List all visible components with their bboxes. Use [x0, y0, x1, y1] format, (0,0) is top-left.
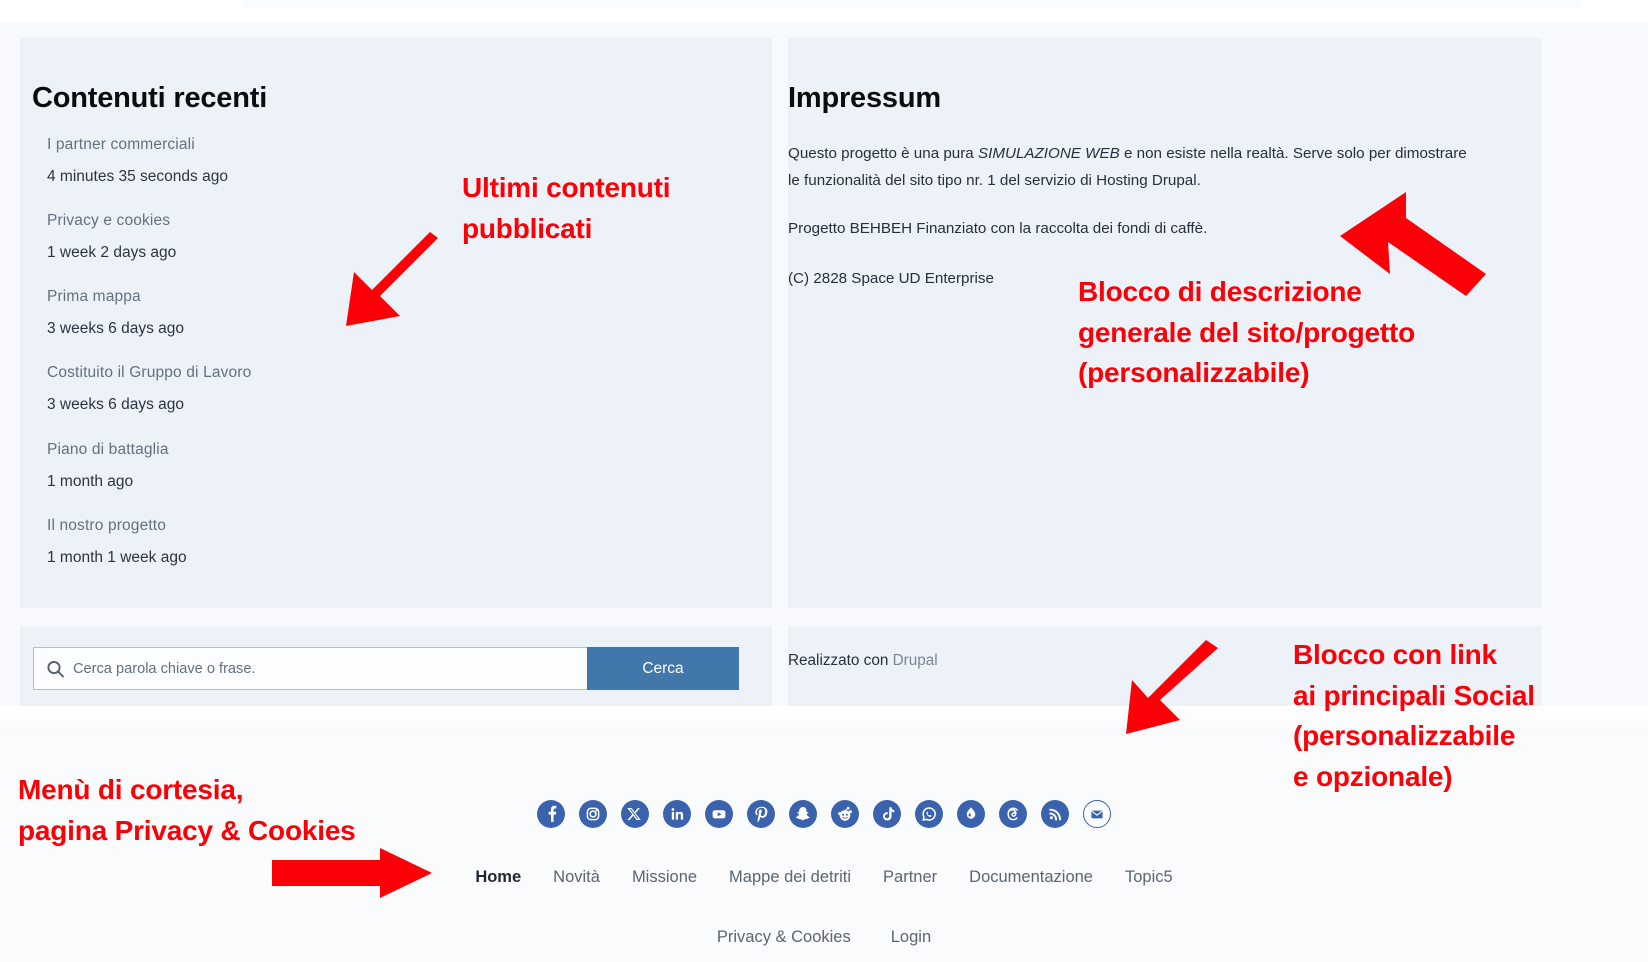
top-strip — [0, 0, 1648, 22]
list-item[interactable]: Piano di battaglia 1 month ago — [47, 438, 647, 494]
colophon-text: Realizzato con Drupal — [788, 652, 938, 670]
list-item-title[interactable]: Il nostro progetto — [47, 514, 647, 538]
annotation-arrow-menu — [272, 848, 437, 898]
impressum-title: Impressum — [788, 82, 941, 115]
page-root: Contenuti recenti I partner commerciali … — [0, 0, 1648, 962]
impressum-p1-emphasis: SIMULAZIONE WEB — [978, 145, 1120, 162]
annotation-recent-content: Ultimi contenuti pubblicati — [462, 168, 670, 249]
instagram-icon[interactable] — [579, 800, 607, 828]
annotation-arrow-social — [1090, 640, 1225, 750]
drupal-link[interactable]: Drupal — [893, 652, 938, 669]
search-input[interactable] — [34, 648, 587, 689]
snapchat-icon[interactable] — [789, 800, 817, 828]
email-icon[interactable] — [1083, 800, 1111, 828]
list-item[interactable]: Costituito il Gruppo di Lavoro 3 weeks 6… — [47, 361, 647, 417]
reddit-icon[interactable] — [831, 800, 859, 828]
courtesy-menu: Privacy & Cookies Login — [0, 928, 1648, 947]
main-menu: Home Novità Missione Mappe dei detriti P… — [0, 868, 1648, 887]
main-menu-item-topic5[interactable]: Topic5 — [1125, 868, 1173, 887]
list-item-time: 1 month ago — [47, 469, 647, 494]
annotation-courtesy-menu: Menù di cortesia, pagina Privacy & Cooki… — [18, 770, 356, 851]
list-item-title[interactable]: Costituito il Gruppo di Lavoro — [47, 361, 647, 385]
main-menu-item-documentazione[interactable]: Documentazione — [969, 868, 1093, 887]
annotation-social: Blocco con link ai principali Social (pe… — [1293, 635, 1535, 797]
tiktok-icon[interactable] — [873, 800, 901, 828]
main-menu-item-missione[interactable]: Missione — [632, 868, 697, 887]
search-panel: Cerca — [20, 626, 772, 706]
youtube-icon[interactable] — [705, 800, 733, 828]
list-item-time: 3 weeks 6 days ago — [47, 392, 647, 417]
search-field-wrapper[interactable] — [33, 647, 587, 690]
facebook-icon[interactable] — [537, 800, 565, 828]
drupal-icon[interactable] — [957, 800, 985, 828]
recent-content-title: Contenuti recenti — [32, 82, 267, 115]
threads-icon[interactable] — [999, 800, 1027, 828]
list-item-time: 1 month 1 week ago — [47, 545, 647, 570]
annotation-arrow-recent — [288, 228, 448, 338]
search-submit-button[interactable]: Cerca — [587, 647, 739, 690]
rss-icon[interactable] — [1041, 800, 1069, 828]
list-item[interactable]: Il nostro progetto 1 month 1 week ago — [47, 514, 647, 570]
courtesy-menu-item-privacy-cookies[interactable]: Privacy & Cookies — [717, 928, 851, 947]
search-form: Cerca — [33, 647, 739, 690]
main-menu-item-novita[interactable]: Novità — [553, 868, 600, 887]
impressum-p1-lead: Questo progetto è una pura — [788, 145, 978, 162]
main-menu-item-mappe-detriti[interactable]: Mappe dei detriti — [729, 868, 851, 887]
x-twitter-icon[interactable] — [621, 800, 649, 828]
colophon-prefix: Realizzato con — [788, 652, 893, 669]
main-menu-item-partner[interactable]: Partner — [883, 868, 937, 887]
linkedin-icon[interactable] — [663, 800, 691, 828]
annotation-arrow-impressum — [1336, 186, 1506, 306]
courtesy-menu-item-login[interactable]: Login — [891, 928, 931, 947]
top-strip-inner — [242, 0, 1582, 8]
main-menu-item-home[interactable]: Home — [475, 868, 521, 887]
whatsapp-icon[interactable] — [915, 800, 943, 828]
pinterest-icon[interactable] — [747, 800, 775, 828]
list-item-title[interactable]: I partner commerciali — [47, 133, 647, 157]
list-item-title[interactable]: Piano di battaglia — [47, 438, 647, 462]
